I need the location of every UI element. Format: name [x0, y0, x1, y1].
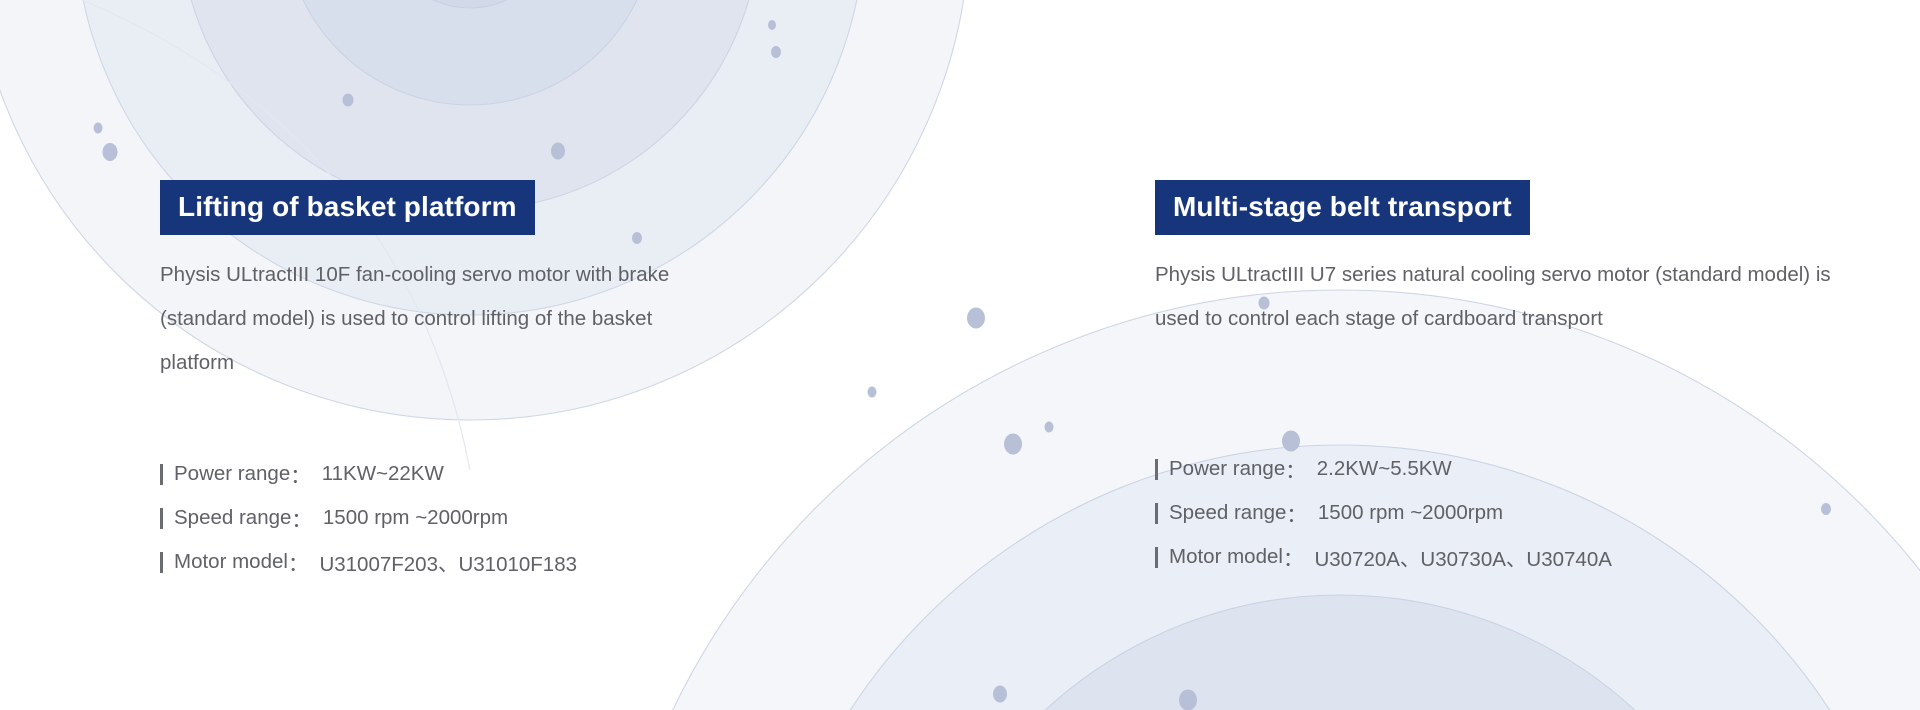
spec-value: U31007F203、U31010F183 — [310, 547, 577, 577]
card-description: Physis ULtractIII 10F fan-cooling servo … — [160, 253, 690, 385]
spec-row-power-range: Power range ： 2.2KW~5.5KW — [1155, 447, 1612, 491]
bullet-bar-icon — [1155, 547, 1158, 568]
card-description: Physis ULtractIII U7 series natural cool… — [1155, 253, 1855, 341]
spec-label: Power range — [1169, 457, 1285, 481]
spec-separator: ： — [1286, 498, 1309, 528]
spec-label: Motor model — [1169, 545, 1283, 569]
spec-separator: ： — [1285, 454, 1308, 484]
card-heading-banner: Multi-stage belt transport — [1155, 180, 1530, 235]
spec-row-power-range: Power range ： 11KW~22KW — [160, 452, 577, 496]
slide-canvas: Lifting of basket platform Physis ULtrac… — [0, 0, 1920, 710]
spec-row-speed-range: Speed range ： 1500 rpm ~2000rpm — [1155, 491, 1612, 535]
card-multi-stage-belt-transport: Multi-stage belt transport Physis ULtrac… — [995, 0, 1920, 710]
card-heading-banner: Lifting of basket platform — [160, 180, 535, 235]
spec-value: U30720A、U30730A、U30740A — [1305, 542, 1611, 572]
spec-row-motor-model: Motor model ： U30720A、U30730A、U30740A — [1155, 535, 1612, 579]
bullet-bar-icon — [160, 508, 163, 529]
spec-row-motor-model: Motor model ： U31007F203、U31010F183 — [160, 540, 577, 584]
spec-list: Power range ： 11KW~22KW Speed range ： 15… — [160, 452, 577, 584]
spec-separator: ： — [290, 459, 313, 489]
spec-separator: ： — [1283, 542, 1306, 572]
spec-label: Speed range — [1169, 501, 1286, 525]
spec-label: Power range — [174, 462, 290, 486]
bullet-bar-icon — [160, 464, 163, 485]
spec-label: Speed range — [174, 506, 291, 530]
spec-label: Motor model — [174, 550, 288, 574]
spec-value: 1500 rpm ~2000rpm — [314, 506, 508, 530]
spec-separator: ： — [291, 503, 314, 533]
content-columns: Lifting of basket platform Physis ULtrac… — [0, 0, 1920, 710]
bullet-bar-icon — [1155, 503, 1158, 524]
spec-list: Power range ： 2.2KW~5.5KW Speed range ： … — [1155, 447, 1612, 579]
spec-value: 2.2KW~5.5KW — [1308, 457, 1452, 481]
bullet-bar-icon — [160, 552, 163, 573]
spec-separator: ： — [288, 547, 311, 577]
card-lifting-of-basket-platform: Lifting of basket platform Physis ULtrac… — [0, 0, 995, 710]
spec-row-speed-range: Speed range ： 1500 rpm ~2000rpm — [160, 496, 577, 540]
spec-value: 11KW~22KW — [313, 462, 444, 486]
bullet-bar-icon — [1155, 459, 1158, 480]
spec-value: 1500 rpm ~2000rpm — [1309, 501, 1503, 525]
